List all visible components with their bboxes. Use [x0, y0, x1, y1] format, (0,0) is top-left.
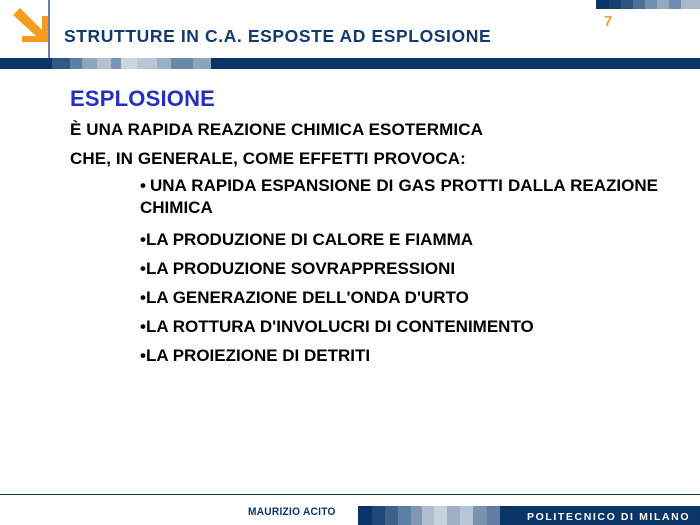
bullet-item-first-text: UNA RAPIDA ESPANSIONE DI GAS PROTTI DALL… — [140, 176, 658, 217]
header-band-segment-0 — [0, 58, 52, 69]
header-decor-block-4 — [645, 0, 657, 9]
bullet-item-first: •UNA RAPIDA ESPANSIONE DI GAS PROTTI DAL… — [140, 175, 658, 219]
header-band-segment-9 — [171, 58, 193, 69]
section-heading: ESPLOSIONE — [70, 86, 215, 112]
header-band-segment-5 — [111, 58, 121, 69]
bullet-item-text: LA GENERAZIONE DELL'ONDA D'URTO — [146, 288, 469, 307]
footer-decor-block-3 — [398, 506, 411, 525]
bullet-item: •LA PRODUZIONE DI CALORE E FIAMMA — [140, 225, 658, 254]
header-decor-block-5 — [657, 0, 669, 9]
header-band-segment-2 — [70, 58, 82, 69]
footer-decor-block-6 — [434, 506, 447, 525]
bullet-item-text: LA PRODUZIONE DI CALORE E FIAMMA — [146, 230, 473, 249]
header-decor-block-2 — [621, 0, 633, 9]
header-decor-blocks — [596, 0, 700, 9]
footer-decor-block-4 — [411, 506, 422, 525]
footer-decor-block-10 — [487, 506, 500, 525]
header-decor-block-3 — [633, 0, 645, 9]
footer-decor-block-0 — [358, 506, 372, 525]
bullet-item: •LA GENERAZIONE DELL'ONDA D'URTO — [140, 283, 658, 312]
bullet-lines: •LA PRODUZIONE DI CALORE E FIAMMA•LA PRO… — [140, 225, 658, 370]
footer-decor-block-9 — [473, 506, 487, 525]
page-number: 7 — [604, 13, 612, 30]
bullet-item: •LA PROIEZIONE DI DETRITI — [140, 341, 658, 370]
header-decor-block-1 — [609, 0, 621, 9]
header-band-fill — [211, 58, 700, 69]
header-divider — [48, 0, 50, 58]
header-band-segment-10 — [193, 58, 211, 69]
lead-line-2: CHE, IN GENERALE, COME EFFETTI PROVOCA: — [70, 149, 466, 169]
footer-decor-block-8 — [460, 506, 473, 525]
bullet-list: •UNA RAPIDA ESPANSIONE DI GAS PROTTI DAL… — [140, 175, 658, 370]
header-band-segment-1 — [52, 58, 70, 69]
footer-decor-block-7 — [447, 506, 460, 525]
slide-body: ESPLOSIONE È UNA RAPIDA REAZIONE CHIMICA… — [0, 69, 700, 494]
header-band-segment-4 — [97, 58, 111, 69]
header-decor-block-7 — [681, 0, 700, 9]
footer-decor-block-2 — [385, 506, 398, 525]
header-band-segment-8 — [157, 58, 171, 69]
bullet-item: •LA PRODUZIONE SOVRAPPRESSIONI — [140, 254, 658, 283]
footer-decor-blocks — [358, 506, 500, 525]
header-band-segment-7 — [137, 58, 157, 69]
header-accent-band — [0, 58, 700, 69]
slide-header: STRUTTURE IN C.A. ESPOSTE AD ESPLOSIONE … — [0, 0, 700, 58]
arrow-down-right-icon — [10, 6, 48, 52]
footer-decor-block-1 — [372, 506, 385, 525]
page-title: STRUTTURE IN C.A. ESPOSTE AD ESPLOSIONE — [64, 26, 491, 47]
header-band-segment-6 — [121, 58, 137, 69]
header-band-segment-3 — [82, 58, 97, 69]
bullet-item-text: LA PRODUZIONE SOVRAPPRESSIONI — [146, 259, 455, 278]
footer-rule — [0, 494, 700, 495]
bullet-glyph: • — [140, 176, 146, 195]
bullet-item-text: LA ROTTURA D'INVOLUCRI DI CONTENIMENTO — [146, 317, 534, 336]
lead-line-1: È UNA RAPIDA REAZIONE CHIMICA ESOTERMICA — [70, 120, 483, 140]
header-decor-block-6 — [669, 0, 681, 9]
header-decor-block-0 — [596, 0, 609, 9]
bullet-item-text: LA PROIEZIONE DI DETRITI — [146, 346, 370, 365]
bullet-item: •LA ROTTURA D'INVOLUCRI DI CONTENIMENTO — [140, 312, 658, 341]
footer-author: MAURIZIO ACITO — [248, 506, 336, 518]
footer-decor-block-5 — [422, 506, 434, 525]
footer-brand: POLITECNICO DI MILANO — [527, 511, 690, 523]
